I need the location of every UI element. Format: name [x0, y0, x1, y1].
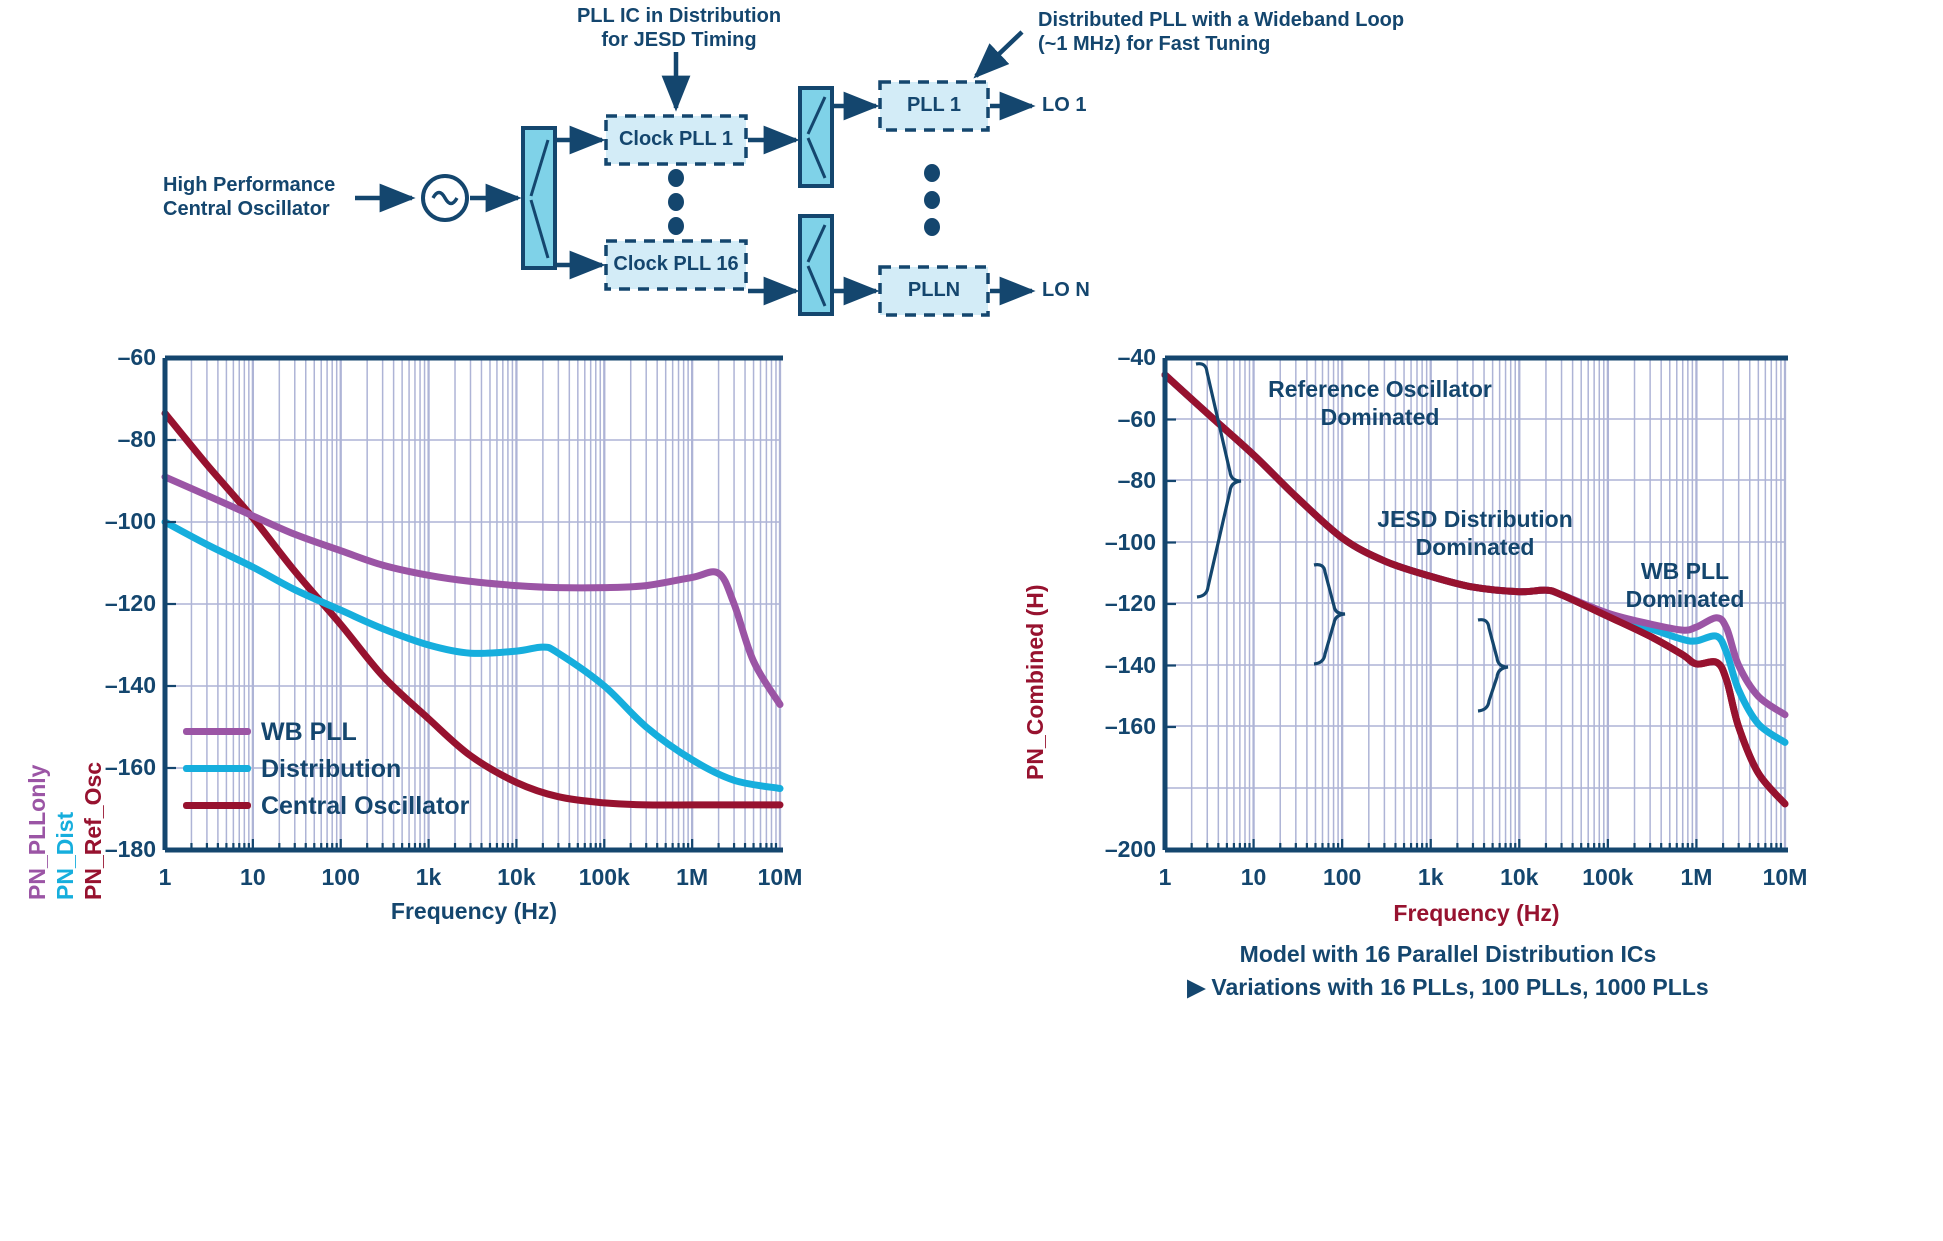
y-tick-label: –140 [1058, 652, 1156, 679]
annotation-reference-oscillator: Reference Oscillator Dominated [1215, 376, 1545, 431]
callout-wideband-loop: Distributed PLL with a Wideband Loop (~1… [1038, 8, 1438, 57]
annotation-jesd-distribution: JESD Distribution Dominated [1330, 506, 1620, 561]
x-tick-label: 1 [1119, 864, 1211, 891]
callout-jesd-line2: for JESD Timing [571, 28, 787, 52]
splitter-block-1 [523, 128, 555, 268]
y-tick-label: –120 [60, 590, 156, 617]
legend-label: Central Oscillator [261, 792, 469, 821]
right-phase-noise-chart: –40–60–80–100–120–140–160–200 1101001k10… [1000, 340, 1943, 1240]
clock-pll-1-label: Clock PLL 1 [606, 127, 746, 151]
right-xlabel: Frequency (Hz) [1165, 900, 1788, 927]
source-label: High Performance Central Oscillator [163, 173, 353, 222]
callout-wb-line1: Distributed PLL with a Wideband Loop [1038, 8, 1438, 32]
annot-wbpll-l2: Dominated [1575, 586, 1795, 614]
legend-swatch [183, 802, 251, 809]
legend-label: WB PLL [261, 718, 357, 747]
source-line2: Central Oscillator [163, 197, 353, 221]
y-tick-label: –80 [60, 426, 156, 453]
left-grid [165, 358, 780, 850]
legend-swatch [183, 728, 251, 735]
x-tick-label: 1 [119, 864, 211, 891]
clock-pll-16-label: Clock PLL 16 [606, 252, 746, 276]
x-tick-label: 1M [1650, 864, 1742, 891]
y-tick-label: –160 [60, 754, 156, 781]
splitter-block-3 [800, 216, 832, 314]
y-tick-label: –200 [1058, 836, 1156, 863]
right-chart-caption: Model with 16 Parallel Distribution ICs … [1008, 938, 1888, 1005]
lo-1-label: LO 1 [1042, 93, 1086, 117]
lo-n-label: LO N [1042, 278, 1090, 302]
caption-line2: ▶ Variations with 16 PLLs, 100 PLLs, 100… [1008, 971, 1888, 1004]
x-tick-label: 1k [383, 864, 475, 891]
y-tick-label: –40 [1058, 344, 1156, 371]
y-tick-label: –120 [1058, 590, 1156, 617]
annot-ref-osc-l2: Dominated [1215, 404, 1545, 432]
left-ylabel-pn-ref-osc: PN_Ref_Osc [80, 762, 107, 900]
y-tick-label: –60 [1058, 406, 1156, 433]
x-tick-label: 100 [295, 864, 387, 891]
annot-ref-osc-l1: Reference Oscillator [1215, 376, 1545, 404]
x-tick-label: 1M [646, 864, 738, 891]
x-tick-label: 100k [558, 864, 650, 891]
x-tick-label: 100k [1562, 864, 1654, 891]
source-line1: High Performance [163, 173, 353, 197]
left-ylabel-pn-pllonly: PN_PLLonly [24, 765, 51, 900]
oscillator-symbol [423, 176, 467, 220]
y-tick-label: –100 [60, 508, 156, 535]
y-tick-label: –140 [60, 672, 156, 699]
left-xlabel: Frequency (Hz) [165, 898, 783, 925]
pll-ellipsis [924, 164, 940, 236]
x-tick-label: 100 [1296, 864, 1388, 891]
x-tick-label: 10 [1208, 864, 1300, 891]
legend-swatch [183, 765, 251, 772]
annotation-wb-pll: WB PLL Dominated [1575, 558, 1795, 613]
x-tick-label: 1k [1385, 864, 1477, 891]
left-phase-noise-chart: –60–80–100–120–140–160–180 1101001k10k10… [0, 340, 960, 940]
clock-pll-ellipsis [668, 169, 684, 235]
y-tick-label: –160 [1058, 713, 1156, 740]
pll-n-label: PLLN [880, 278, 988, 302]
annot-wbpll-l1: WB PLL [1575, 558, 1795, 586]
x-tick-label: 10 [207, 864, 299, 891]
x-tick-label: 10k [1473, 864, 1565, 891]
x-tick-label: 10M [1739, 864, 1831, 891]
pll-1-label: PLL 1 [880, 93, 988, 117]
callout-jesd-line1: PLL IC in Distribution [571, 4, 787, 28]
left-ylabel-pn-dist: PN_Dist [52, 812, 79, 900]
callout-wb-line2: (~1 MHz) for Fast Tuning [1038, 32, 1438, 56]
splitter-block-2 [800, 88, 832, 186]
y-tick-label: –80 [1058, 467, 1156, 494]
callout-jesd-timing: PLL IC in Distribution for JESD Timing [571, 4, 787, 53]
x-tick-label: 10M [734, 864, 826, 891]
x-tick-label: 10k [470, 864, 562, 891]
annot-jesd-l1: JESD Distribution [1330, 506, 1620, 534]
right-ylabel: PN_Combined (H) [1022, 585, 1049, 781]
y-tick-label: –100 [1058, 529, 1156, 556]
y-tick-label: –60 [60, 344, 156, 371]
legend-label: Distribution [261, 755, 401, 784]
caption-line1: Model with 16 Parallel Distribution ICs [1008, 938, 1888, 971]
